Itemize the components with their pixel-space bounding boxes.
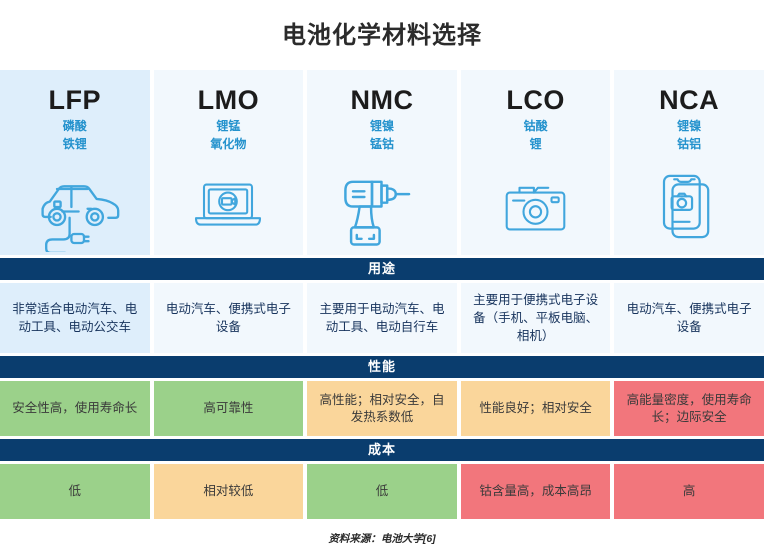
- battery-column-nmc: NMC锂镍锰钴: [307, 70, 461, 255]
- table-cell: 非常适合电动汽车、电动工具、电动公交车: [0, 283, 154, 353]
- battery-abbr: LFP: [49, 84, 102, 116]
- battery-name-line2: 钴铝: [677, 137, 701, 152]
- battery-column-lco: LCO钴酸锂: [461, 70, 615, 255]
- battery-name-line2: 氧化物: [210, 137, 246, 152]
- battery-name-line1: 钴酸: [524, 119, 548, 134]
- battery-column-lmo: LMO锂锰氧化物: [154, 70, 308, 255]
- table-cell: 电动汽车、便携式电子设备: [154, 283, 308, 353]
- laptop-icon: [178, 158, 278, 255]
- section-band-data-2: 成本: [0, 439, 764, 461]
- power-drill-icon: [334, 158, 429, 255]
- battery-type-header-row: LFP磷酸铁锂LMO锂锰氧化物NMC锂镍锰钴LCO钴酸锂NCA锂镍钴铝: [0, 70, 764, 255]
- section-row-1: 安全性高，使用寿命长高可靠性高性能；相对安全，自发热系数低性能良好；相对安全高能…: [0, 381, 764, 436]
- table-cell: 相对较低: [154, 464, 308, 519]
- electric-car-icon: [15, 158, 135, 255]
- infographic-page: 电池化学材料选择 LFP磷酸铁锂LMO锂锰氧化物NMC锂镍锰钴LCO钴酸锂NCA…: [0, 0, 764, 557]
- camera-icon: [488, 158, 583, 255]
- table-cell: 高: [614, 464, 764, 519]
- table-cell: 电动汽车、便携式电子设备: [614, 283, 764, 353]
- comparison-sections: 用途非常适合电动汽车、电动工具、电动公交车电动汽车、便携式电子设备主要用于电动汽…: [0, 255, 764, 519]
- battery-column-lfp: LFP磷酸铁锂: [0, 70, 154, 255]
- page-title: 电池化学材料选择: [0, 0, 764, 70]
- section-band-use-0: 用途: [0, 258, 764, 280]
- smartphone-icon: [647, 158, 732, 255]
- table-cell: 主要用于电动汽车、电动工具、电动自行车: [307, 283, 461, 353]
- battery-name-line2: 锂: [530, 137, 542, 152]
- section-row-0: 非常适合电动汽车、电动工具、电动公交车电动汽车、便携式电子设备主要用于电动汽车、…: [0, 283, 764, 353]
- table-cell: 性能良好；相对安全: [461, 381, 615, 436]
- table-cell: 主要用于便携式电子设备（手机、平板电脑、相机）: [461, 283, 615, 353]
- table-cell: 高可靠性: [154, 381, 308, 436]
- table-cell: 低: [0, 464, 154, 519]
- battery-name-line2: 锰钴: [370, 137, 394, 152]
- battery-abbr: LCO: [506, 84, 565, 116]
- battery-name-line2: 铁锂: [63, 137, 87, 152]
- table-cell: 安全性高，使用寿命长: [0, 381, 154, 436]
- table-cell: 钴含量高，成本高昂: [461, 464, 615, 519]
- table-cell: 高性能；相对安全，自发热系数低: [307, 381, 461, 436]
- source-note: 资料来源：电池大学[6]: [0, 519, 764, 546]
- battery-abbr: NMC: [350, 84, 413, 116]
- battery-column-nca: NCA锂镍钴铝: [614, 70, 764, 255]
- battery-name-line1: 锂锰: [216, 119, 240, 134]
- section-band-data-1: 性能: [0, 356, 764, 378]
- battery-name-line1: 锂镍: [370, 119, 394, 134]
- battery-name-line1: 锂镍: [677, 119, 701, 134]
- table-cell: 高能量密度，使用寿命长；边际安全: [614, 381, 764, 436]
- battery-abbr: NCA: [659, 84, 719, 116]
- table-cell: 低: [307, 464, 461, 519]
- section-row-2: 低相对较低低钴含量高，成本高昂高: [0, 464, 764, 519]
- battery-name-line1: 磷酸: [63, 119, 87, 134]
- battery-abbr: LMO: [198, 84, 260, 116]
